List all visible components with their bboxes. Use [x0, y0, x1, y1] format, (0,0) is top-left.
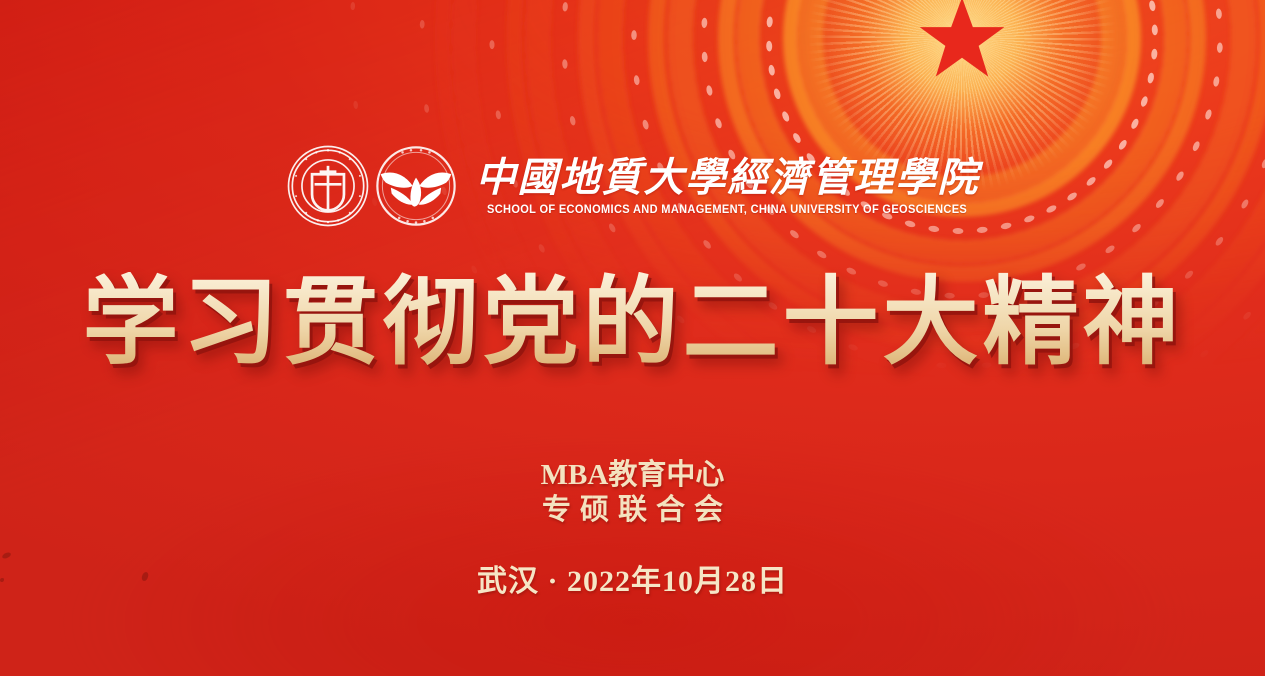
- organization-block: MBA教育中心 专硕联合会: [0, 458, 1265, 529]
- school-of-economics-and-management-emblem-icon: [374, 144, 458, 228]
- logo-emblems: [286, 144, 458, 228]
- five-pointed-star-icon: [916, 0, 1008, 84]
- logo-wordmark: 中國地質大學經濟管理學院 SCHOOL OF ECONOMICS AND MAN…: [476, 156, 980, 215]
- logo-chinese-name: 中國地質大學經濟管理學院: [476, 156, 980, 199]
- location-date: 武汉 · 2022年10月28日: [0, 556, 1265, 600]
- page-title: 学习贯彻党的二十大精神: [0, 272, 1265, 374]
- organization-line-2: 专硕联合会: [0, 493, 1265, 528]
- china-university-of-geosciences-seal-icon: [286, 144, 370, 228]
- main-title-text: 学习贯彻党的二十大精神: [83, 272, 1183, 374]
- logo-english-name: SCHOOL OF ECONOMICS AND MANAGEMENT, CHIN…: [487, 204, 967, 216]
- institution-logo: 中國地質大學經濟管理學院 SCHOOL OF ECONOMICS AND MAN…: [0, 144, 1265, 228]
- organization-line-1: MBA教育中心: [0, 458, 1265, 493]
- title-slide: 中國地質大學經濟管理學院 SCHOOL OF ECONOMICS AND MAN…: [0, 0, 1265, 676]
